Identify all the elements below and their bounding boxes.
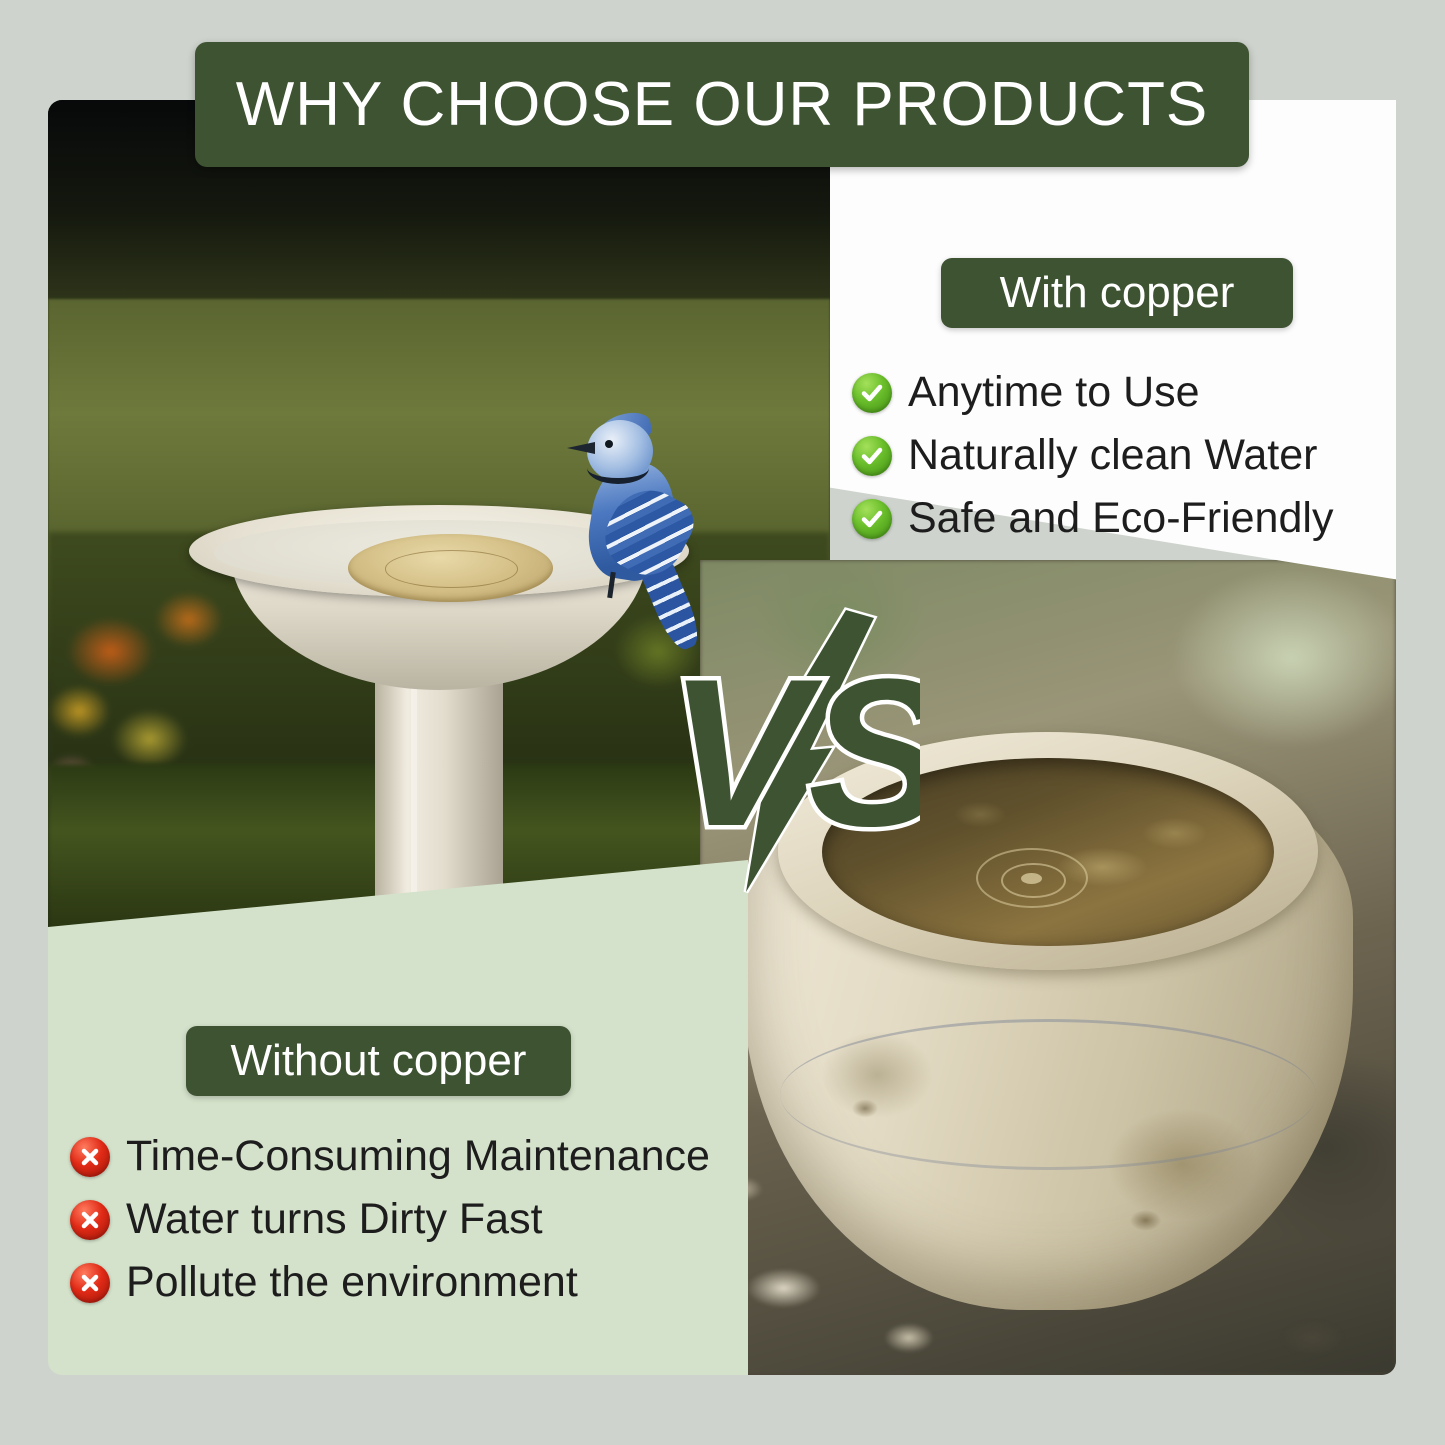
bird-beak xyxy=(567,442,595,454)
check-circle-icon xyxy=(852,373,892,413)
water-ripple xyxy=(976,848,1088,908)
infographic-canvas: WHY CHOOSE OUR PRODUCTS With copper Anyt… xyxy=(0,0,1445,1445)
check-circle-icon xyxy=(852,499,892,539)
list-item: Pollute the environment xyxy=(70,1258,790,1307)
bird-collar xyxy=(587,452,649,484)
page-title: WHY CHOOSE OUR PRODUCTS xyxy=(236,69,1209,140)
list-item-label: Naturally clean Water xyxy=(908,431,1317,480)
list-item: Anytime to Use xyxy=(852,368,1382,417)
dirty-water-surface xyxy=(822,758,1274,946)
list-item-label: Anytime to Use xyxy=(908,368,1200,417)
cross-circle-icon xyxy=(70,1200,110,1240)
list-item-label: Safe and Eco-Friendly xyxy=(908,494,1333,543)
check-circle-icon xyxy=(852,436,892,476)
list-item-label: Pollute the environment xyxy=(126,1258,578,1307)
list-item-label: Time-Consuming Maintenance xyxy=(126,1132,710,1181)
list-item: Safe and Eco-Friendly xyxy=(852,494,1382,543)
pot-ring-bands xyxy=(780,1019,1317,1171)
copper-disc xyxy=(348,534,553,602)
with-copper-badge: With copper xyxy=(941,258,1293,328)
cross-circle-icon xyxy=(70,1137,110,1177)
with-copper-list: Anytime to Use Naturally clean Water Saf… xyxy=(852,368,1382,557)
list-item: Time-Consuming Maintenance xyxy=(70,1132,790,1181)
cross-circle-icon xyxy=(70,1263,110,1303)
list-item: Naturally clean Water xyxy=(852,431,1382,480)
without-copper-badge: Without copper xyxy=(186,1026,571,1096)
without-copper-list: Time-Consuming Maintenance Water turns D… xyxy=(70,1132,790,1321)
dirty-water-pot-photo xyxy=(700,560,1396,1375)
page-title-banner: WHY CHOOSE OUR PRODUCTS xyxy=(195,42,1249,167)
with-copper-badge-label: With copper xyxy=(1000,268,1235,318)
without-copper-badge-label: Without copper xyxy=(231,1036,527,1086)
list-item: Water turns Dirty Fast xyxy=(70,1195,790,1244)
bird-eye xyxy=(605,440,613,448)
list-item-label: Water turns Dirty Fast xyxy=(126,1195,543,1244)
